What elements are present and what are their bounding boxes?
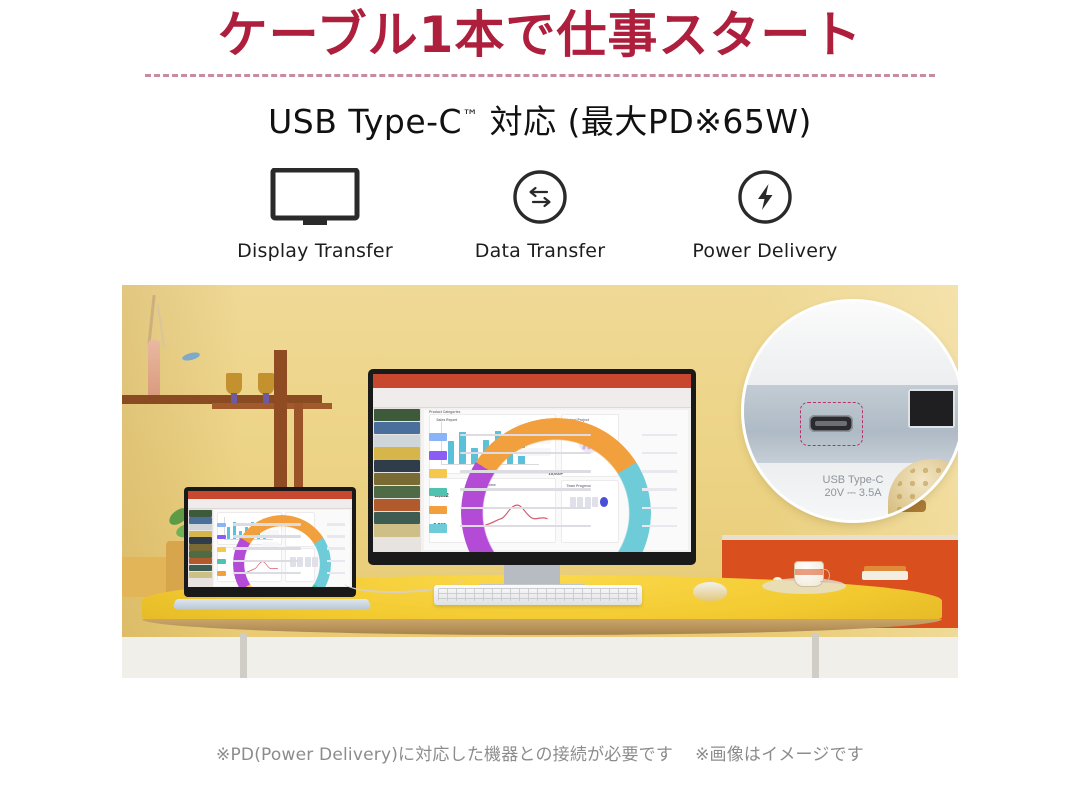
- mouse: [693, 582, 727, 601]
- page-title: ケーブル1本で仕事スタート: [0, 4, 1080, 66]
- monitor-icon: [270, 168, 360, 226]
- slide-thumbnails: [373, 408, 421, 552]
- feature-label: Display Transfer: [237, 240, 393, 262]
- lightning-bolt-icon: [736, 168, 794, 226]
- feature-label: Power Delivery: [692, 240, 837, 262]
- trademark-icon: ™: [462, 106, 479, 125]
- footnote-pd: ※PD(Power Delivery)に対応した機器との接続が必要です: [216, 745, 673, 765]
- subtitle-usb-type-c: USB Type-C: [268, 102, 462, 141]
- wall-shelf-lower: [212, 403, 332, 409]
- footnote: ※PD(Power Delivery)に対応した機器との接続が必要です※画像はイ…: [0, 740, 1080, 765]
- usb-a-port-icon: [908, 389, 956, 428]
- desk-scene-photo: Sales Report 45,332 2,309 Income: [122, 285, 958, 678]
- title-divider: [145, 74, 935, 77]
- desk-leg: [240, 633, 247, 678]
- port-highlight-ring: [800, 402, 863, 446]
- feature-list: Display Transfer Data Transfer Power Del…: [210, 168, 870, 262]
- desk-leg-2: [812, 633, 819, 678]
- floor: [122, 637, 958, 678]
- dashboard-ribbon: [373, 388, 691, 408]
- vase: [148, 340, 160, 398]
- laptop-screen: [188, 491, 352, 587]
- coffee-cup-band: [795, 569, 823, 575]
- monitor-screen: Sales Report 45,332 2,309 Income: [373, 374, 691, 552]
- dashboard-canvas: Sales Report 45,332 2,309 Income: [424, 410, 688, 551]
- subtitle-spec: 対応 (最大PD※65W): [479, 102, 812, 141]
- magnifier-top-surface: [744, 302, 958, 385]
- keyboard: [434, 585, 642, 605]
- feature-power-delivery: Power Delivery: [660, 168, 870, 262]
- feature-display-transfer: Display Transfer: [210, 168, 420, 262]
- storage-box: [122, 557, 168, 597]
- dashboard-topbar: [373, 374, 691, 388]
- laptop-dashboard-mockup: [188, 491, 352, 587]
- laptop-base: [171, 599, 372, 610]
- glass-cup-2: [258, 373, 274, 395]
- dashboard-mockup: Sales Report 45,332 2,309 Income: [373, 374, 691, 552]
- sales-report-title: Sales Report: [436, 418, 457, 422]
- footnote-image: ※画像はイメージです: [695, 745, 864, 765]
- feature-label: Data Transfer: [475, 240, 605, 262]
- feature-data-transfer: Data Transfer: [435, 168, 645, 262]
- glass-cup: [226, 373, 242, 395]
- data-transfer-arrows-icon: [511, 168, 569, 226]
- page-subtitle: USB Type-C™ 対応 (最大PD※65W): [0, 95, 1080, 143]
- product-categories-title: Product Categories: [429, 410, 460, 414]
- usb-c-port-magnifier: USB Type-C 20V ⎓ 3.5A: [744, 302, 958, 520]
- notebook: [862, 571, 908, 580]
- promo-page: ケーブル1本で仕事スタート USB Type-C™ 対応 (最大PD※65W) …: [0, 0, 1080, 793]
